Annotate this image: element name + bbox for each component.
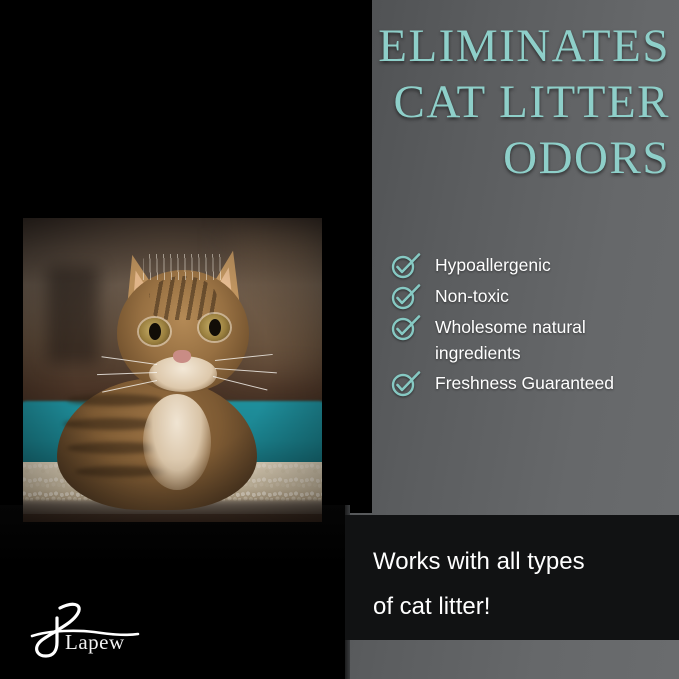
benefit-item: Hypoallergenic	[391, 252, 676, 279]
advertisement-canvas: ELIMINATES CAT LITTER ODORS Hypoallergen…	[0, 0, 679, 679]
callout-line-2: of cat litter!	[373, 584, 663, 629]
benefit-item: Non-toxic	[391, 283, 676, 310]
callout-box: Works with all types of cat litter!	[345, 515, 679, 640]
photo-vignette	[23, 218, 322, 522]
callout-line-1: Works with all types	[373, 539, 663, 584]
benefit-label: Hypoallergenic	[435, 252, 551, 278]
benefit-label: Wholesome natural ingredients	[435, 314, 647, 366]
headline: ELIMINATES CAT LITTER ODORS	[290, 18, 670, 186]
callout-text: Works with all types of cat litter!	[373, 539, 663, 629]
benefit-label: Non-toxic	[435, 283, 509, 309]
circle-check-icon	[391, 284, 421, 310]
circle-check-icon	[391, 253, 421, 279]
circle-check-icon	[391, 371, 421, 397]
headline-line-1: ELIMINATES	[290, 18, 670, 74]
brand-logo: Lapew	[20, 600, 200, 662]
circle-check-icon	[391, 315, 421, 341]
benefit-label: Freshness Guaranteed	[435, 370, 614, 396]
headline-line-2: CAT LITTER	[290, 74, 670, 130]
headline-line-3: ODORS	[290, 130, 670, 186]
benefits-list: Hypoallergenic Non-toxic Wholesome natur…	[391, 252, 676, 401]
brand-name: Lapew	[65, 630, 125, 655]
kitten-photo	[23, 218, 322, 522]
benefit-item: Wholesome natural ingredients	[391, 314, 676, 366]
benefit-item: Freshness Guaranteed	[391, 370, 676, 397]
